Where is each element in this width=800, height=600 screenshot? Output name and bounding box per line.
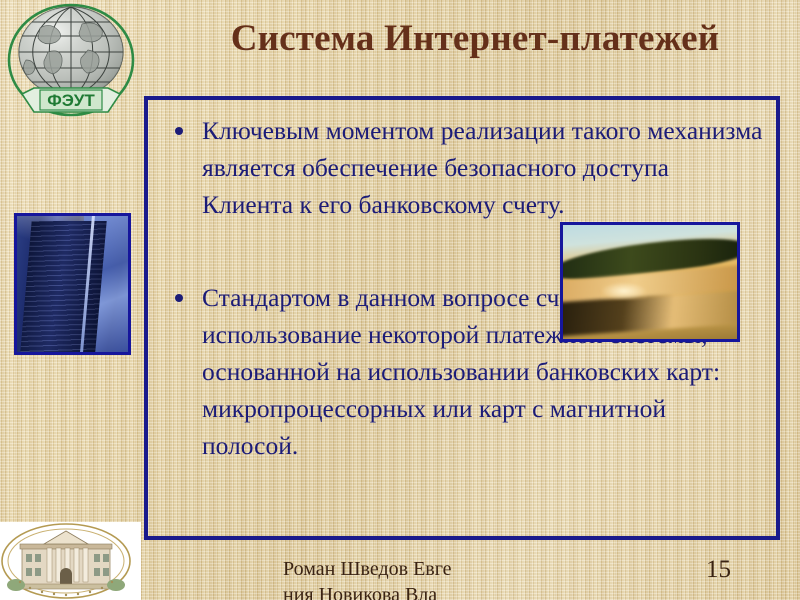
page-title: Система Интернет-платежей <box>160 20 790 59</box>
tower-region <box>20 221 107 352</box>
footer-authors: Роман Шведов Евге ния Новикова Вла <box>283 556 583 600</box>
slide-page-number: 15 <box>706 556 731 584</box>
university-building-seal <box>0 522 141 600</box>
globe-logo-graphic: ФЭУТ <box>4 2 139 122</box>
bullet-item-1: Ключевым моментом реализации такого меха… <box>162 112 766 223</box>
seal-graphic <box>0 522 141 600</box>
logo-banner-text: ФЭУТ <box>47 91 95 110</box>
globe-logo: ФЭУТ <box>4 2 139 122</box>
footer-authors-line-1: Роман Шведов Евге <box>283 556 583 582</box>
presentation-slide: ФЭУТ Система Интернет-платежей Ключевым … <box>0 0 800 600</box>
wallet-highlight <box>601 282 646 300</box>
footer-authors-line-2: ния Новикова Вла <box>283 582 583 600</box>
open-wallet-photo <box>560 222 740 342</box>
skyscraper-photo <box>14 213 131 355</box>
